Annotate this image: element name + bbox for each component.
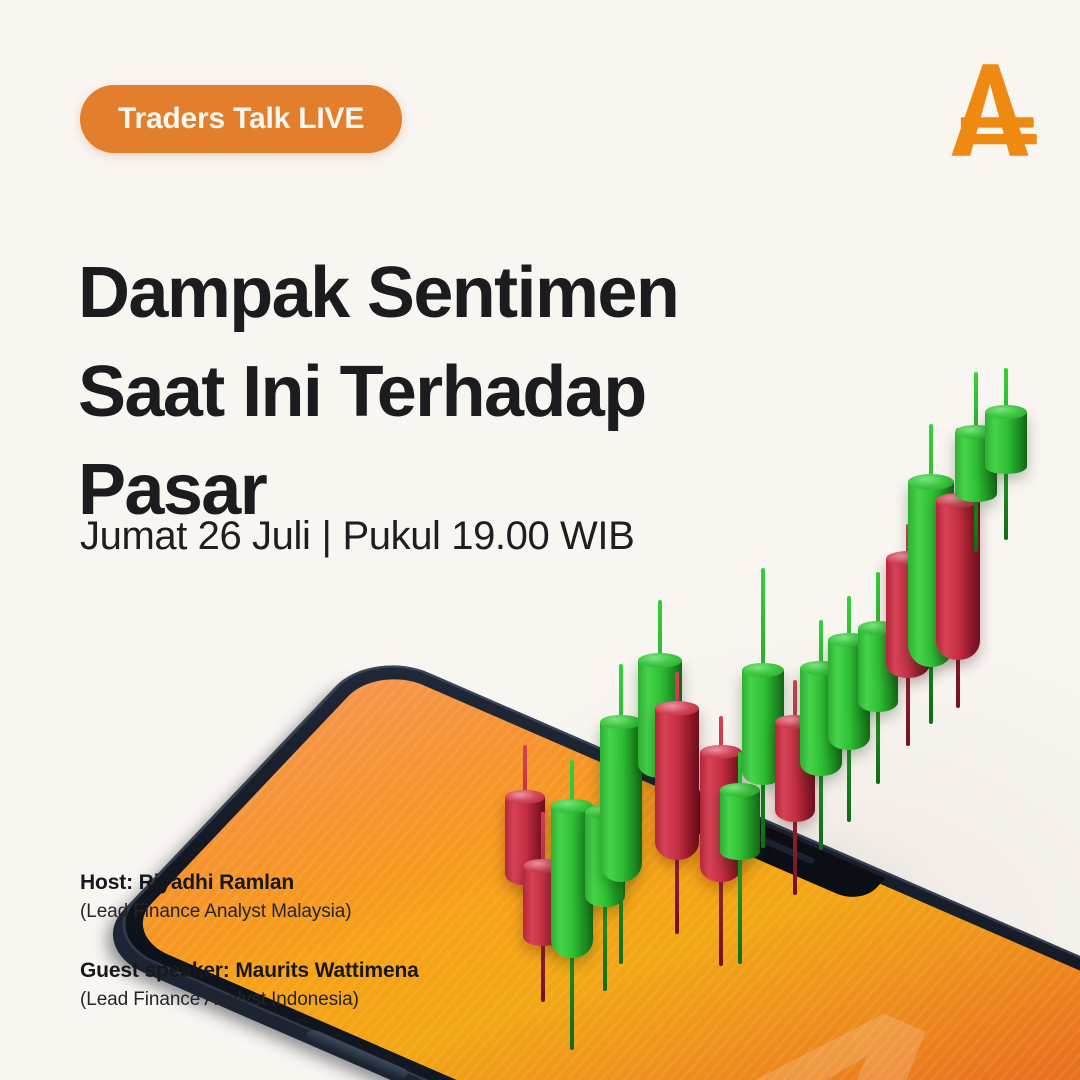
speaker-guest-role: (Lead Finance Analyst Indonesia) — [80, 986, 550, 1015]
schedule-time: Pukul 19.00 WIB — [342, 514, 634, 558]
speaker-list: Host: Riyadhi Ramlan (Lead Finance Analy… — [80, 868, 550, 1015]
poster-canvas: Traders Talk LIVE Dampak Sentimen Saat I… — [0, 0, 1080, 1080]
speaker-guest-name: Guest speaker: Maurits Wattimena — [80, 956, 550, 986]
poster-content: Traders Talk LIVE Dampak Sentimen Saat I… — [0, 0, 1080, 1080]
speaker-host: Host: Riyadhi Ramlan (Lead Finance Analy… — [80, 868, 550, 926]
schedule-line: Jumat 26 Juli|Pukul 19.00 WIB — [80, 514, 634, 559]
schedule-date: Jumat 26 Juli — [80, 514, 310, 558]
live-badge-label: Traders Talk LIVE — [118, 102, 364, 136]
brand-a-icon — [938, 58, 1042, 164]
page-title: Dampak Sentimen Saat Ini Terhadap Pasar — [78, 244, 798, 540]
speaker-host-role: (Lead Finance Analyst Malaysia) — [80, 898, 550, 927]
speaker-guest: Guest speaker: Maurits Wattimena (Lead F… — [80, 956, 550, 1014]
headline-line-1: Dampak Sentimen — [78, 244, 798, 343]
speaker-host-name: Host: Riyadhi Ramlan — [80, 868, 550, 898]
schedule-separator: | — [321, 514, 331, 559]
headline-line-2: Saat Ini Terhadap — [78, 343, 798, 442]
live-badge[interactable]: Traders Talk LIVE — [80, 85, 402, 153]
